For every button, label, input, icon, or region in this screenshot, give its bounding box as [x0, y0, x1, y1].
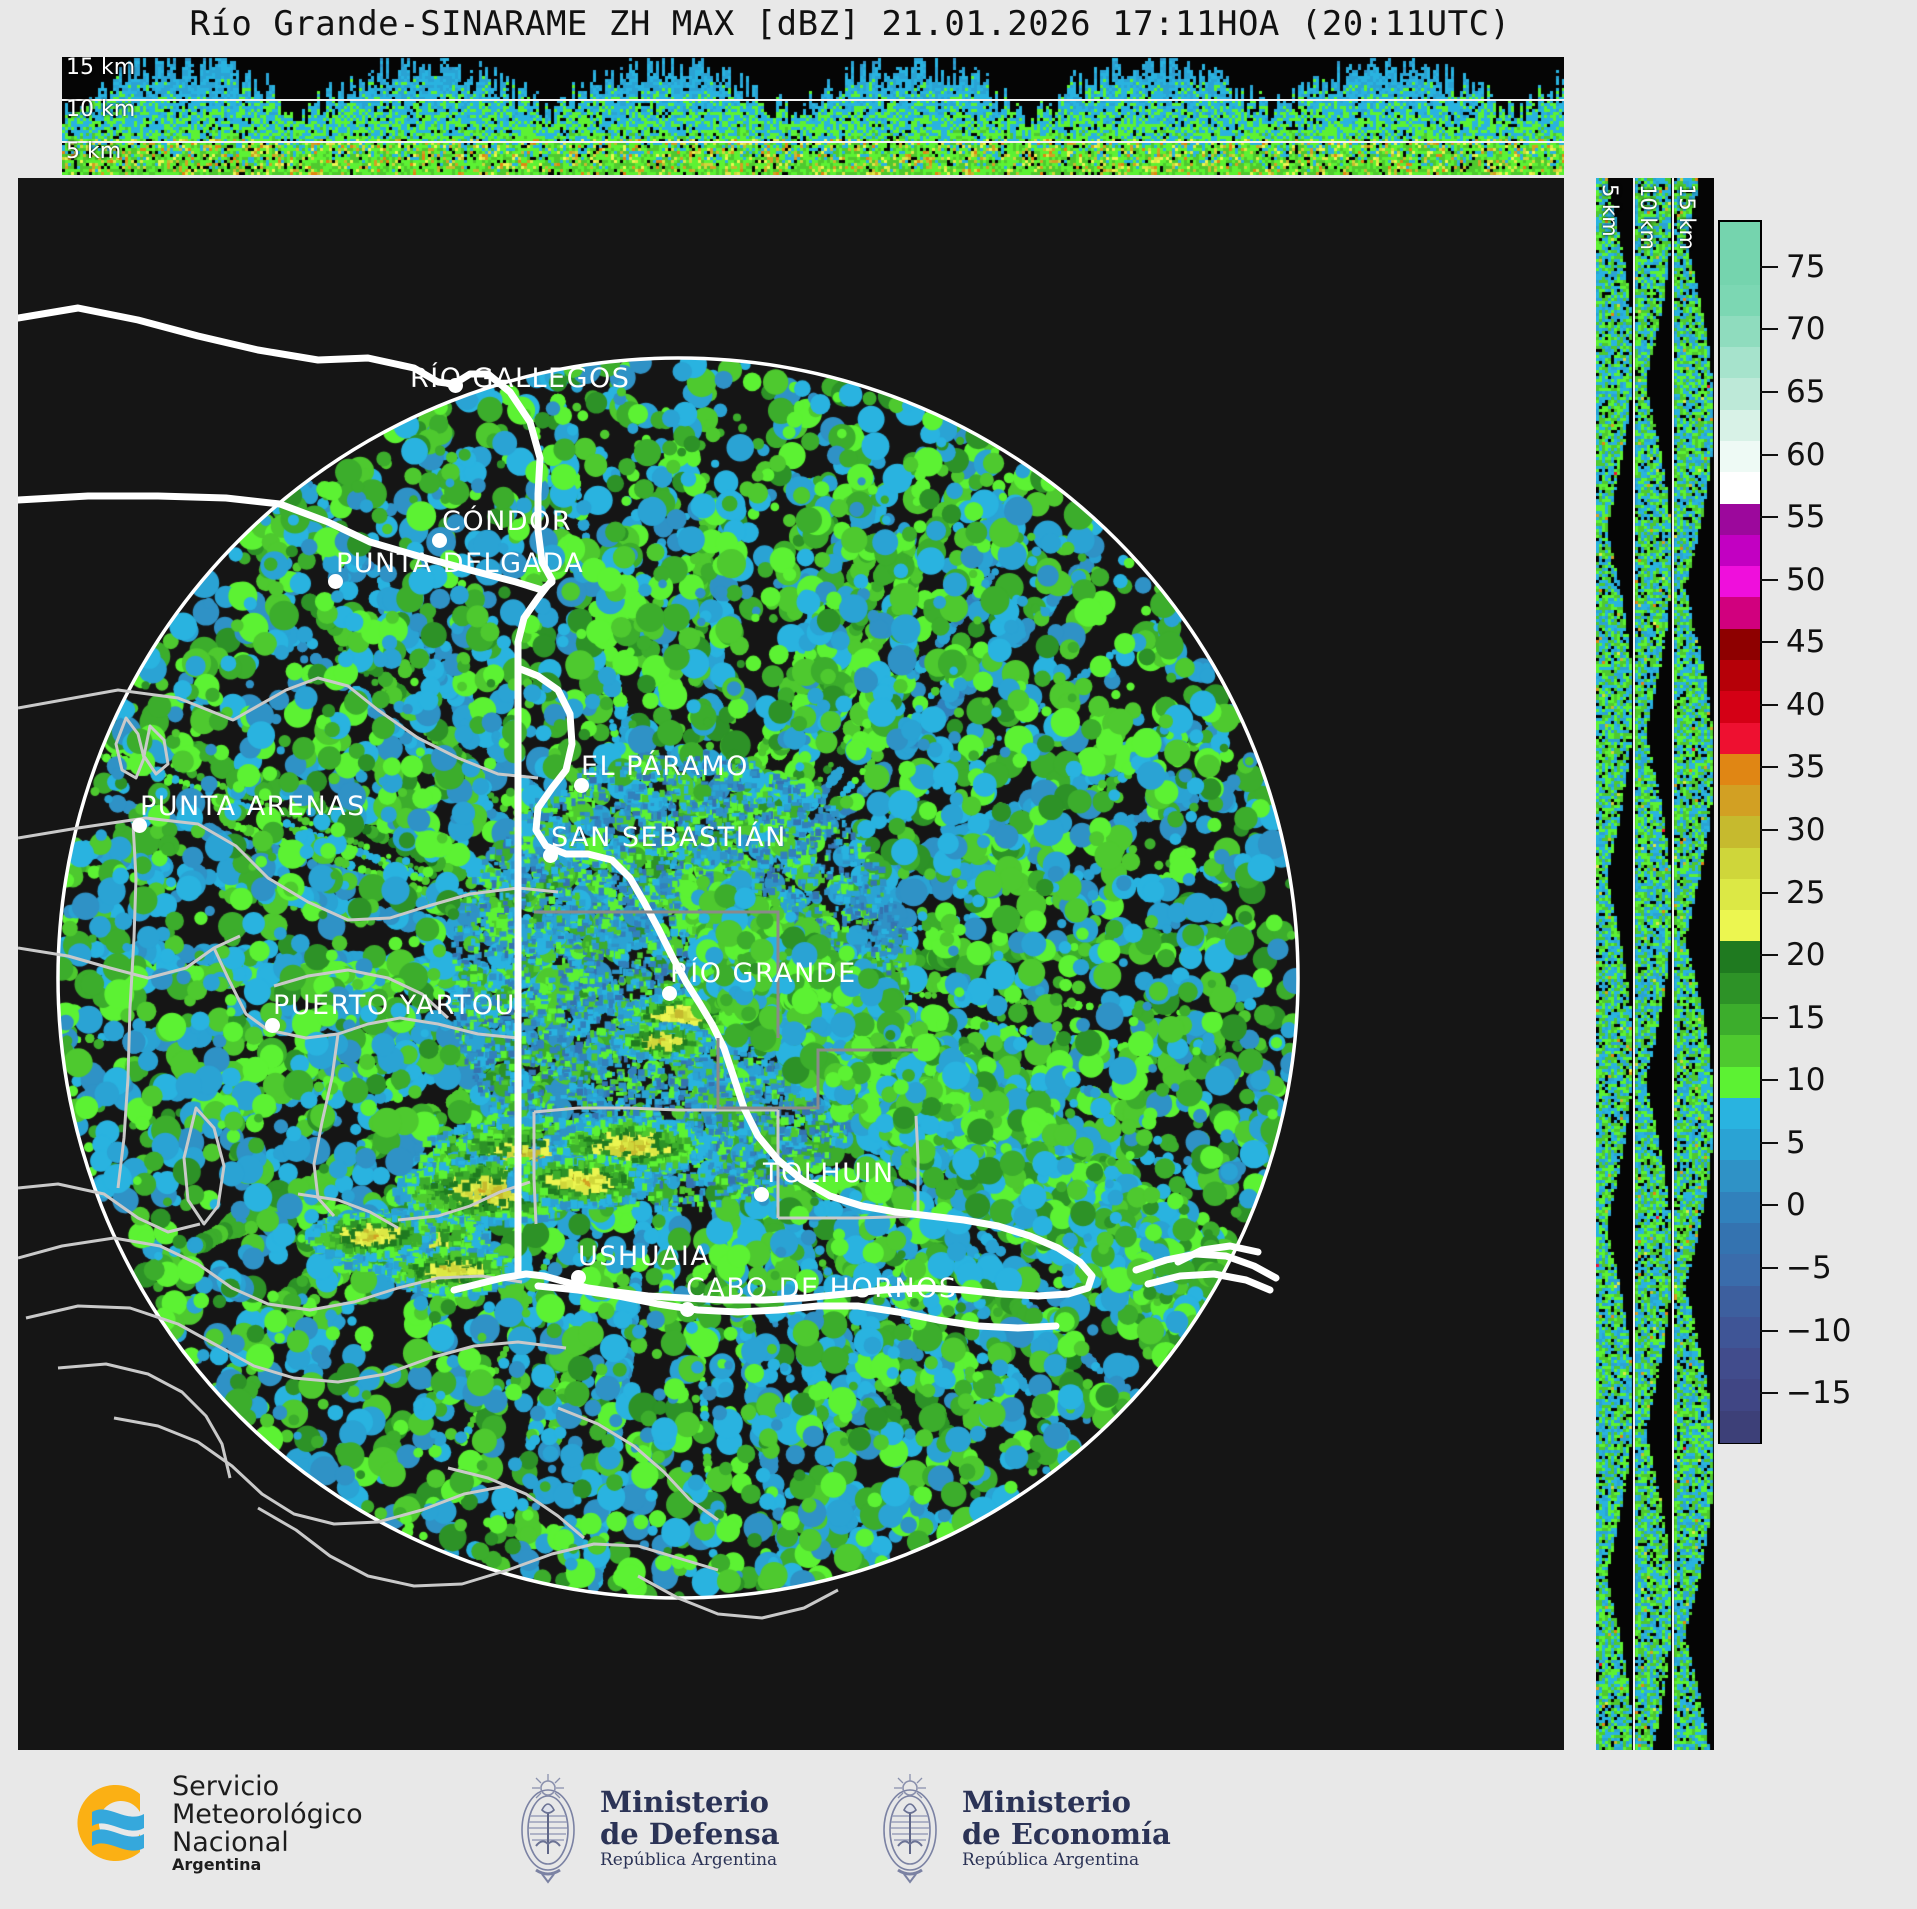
colorbar-tick-label: 40 — [1786, 687, 1825, 723]
colorbar-segment — [1720, 347, 1760, 379]
colorbar-tick-label: 55 — [1786, 499, 1825, 535]
city-marker-dot — [571, 1270, 586, 1285]
colorbar-segment — [1720, 754, 1760, 786]
side-alt-label-10km: 10 km — [1636, 184, 1660, 250]
page-title: Río Grande-SINARAME ZH MAX [dBZ] 21.01.2… — [0, 4, 1700, 44]
city-marker-dot — [543, 848, 558, 863]
colorbar-tick — [1760, 579, 1778, 581]
defensa-line-3: República Argentina — [600, 1851, 780, 1870]
smn-line-1: Servicio — [172, 1773, 363, 1801]
colorbar-segment — [1720, 285, 1760, 317]
vertical-gridline-a — [1633, 178, 1635, 1750]
colorbar-segment — [1720, 848, 1760, 880]
colorbar-segment — [1720, 941, 1760, 973]
argentina-coat-of-arms-icon — [870, 1772, 950, 1884]
colorbar-segment — [1720, 785, 1760, 817]
colorbar-tick — [1760, 1267, 1778, 1269]
economia-line-1: Ministerio — [962, 1787, 1171, 1819]
colorbar-segment — [1720, 1317, 1760, 1349]
colorbar-tick-label: −5 — [1786, 1250, 1832, 1286]
argentina-coat-of-arms-icon — [508, 1772, 588, 1884]
defensa-line-2: de Defensa — [600, 1819, 780, 1851]
colorbar-segment — [1720, 1379, 1760, 1411]
colorbar-segment — [1720, 879, 1760, 911]
colorbar-segment — [1720, 1129, 1760, 1161]
colorbar-tick — [1760, 892, 1778, 894]
city-marker-dot — [662, 986, 677, 1001]
top-cross-section-panel: 15 km 10 km 5 km — [62, 57, 1564, 175]
economia-logo-text: Ministerio de Economía República Argenti… — [962, 1787, 1171, 1869]
colorbar-segment — [1720, 472, 1760, 504]
colorbar-tick — [1760, 641, 1778, 643]
colorbar-segment — [1720, 597, 1760, 629]
colorbar-segment — [1720, 1004, 1760, 1036]
side-alt-label-15km: 15 km — [1675, 184, 1699, 250]
smn-line-2: Meteorológico — [172, 1801, 363, 1829]
colorbar-segment — [1720, 1067, 1760, 1099]
colorbar-tick-label: 50 — [1786, 562, 1825, 598]
colorbar-tick-label: −15 — [1786, 1375, 1851, 1411]
economia-line-2: de Economía — [962, 1819, 1171, 1851]
city-marker-dot — [754, 1187, 769, 1202]
colorbar-segment — [1720, 504, 1760, 536]
colorbar-segment — [1720, 1223, 1760, 1255]
colorbar-tick — [1760, 1204, 1778, 1206]
colorbar-tick-label: 75 — [1786, 249, 1825, 285]
colorbar-tick-label: 35 — [1786, 749, 1825, 785]
colorbar-tick — [1760, 1330, 1778, 1332]
colorbar-tick-label: 0 — [1786, 1187, 1806, 1223]
colorbar-segment — [1720, 378, 1760, 410]
colorbar-tick — [1760, 954, 1778, 956]
colorbar-tick — [1760, 516, 1778, 518]
colorbar-segment — [1720, 566, 1760, 598]
colorbar-tick — [1760, 1079, 1778, 1081]
colorbar-segment — [1720, 1035, 1760, 1067]
colorbar-tick-label: 15 — [1786, 1000, 1825, 1036]
colorbar-segment — [1720, 1411, 1760, 1443]
smn-logo: Servicio Meteorológico Nacional Argentin… — [52, 1768, 363, 1878]
vertical-gridline-b — [1672, 178, 1674, 1750]
gridline-15km — [62, 99, 1564, 101]
colorbar-tick — [1760, 829, 1778, 831]
colorbar-tick — [1760, 766, 1778, 768]
main-coastline — [18, 308, 1276, 1328]
smn-logo-text: Servicio Meteorológico Nacional Argentin… — [172, 1773, 363, 1874]
colorbar-segment — [1720, 1286, 1760, 1318]
administrative-boundary — [534, 912, 918, 1108]
alt-label-10km: 10 km — [66, 97, 135, 122]
colorbar-segment — [1720, 973, 1760, 1005]
colorbar-segment — [1720, 535, 1760, 567]
secondary-coastline — [18, 678, 918, 1618]
colorbar-segment — [1720, 691, 1760, 723]
colorbar-segment — [1720, 723, 1760, 755]
colorbar-tick — [1760, 1392, 1778, 1394]
city-marker-dot — [265, 1018, 280, 1033]
colorbar-tick-label: 10 — [1786, 1062, 1825, 1098]
city-marker-dot — [680, 1302, 695, 1317]
colorbar-segment — [1720, 222, 1760, 254]
dbz-colorbar-ticks: 757065605550454035302520151050−5−10−15 — [1760, 200, 1910, 1460]
colorbar-segment — [1720, 1192, 1760, 1224]
colorbar-segment — [1720, 316, 1760, 348]
map-overlay — [18, 178, 1564, 1750]
footer: Servicio Meteorológico Nacional Argentin… — [0, 1752, 1917, 1909]
colorbar-tick-label: 60 — [1786, 437, 1825, 473]
smn-line-4: Argentina — [172, 1857, 363, 1874]
colorbar-segment — [1720, 816, 1760, 848]
colorbar-tick — [1760, 328, 1778, 330]
colorbar-tick-label: −10 — [1786, 1313, 1851, 1349]
colorbar-segment — [1720, 1254, 1760, 1286]
city-marker-dot — [448, 378, 463, 393]
city-marker-dot — [574, 778, 589, 793]
colorbar-tick-label: 70 — [1786, 311, 1825, 347]
colorbar-tick-label: 20 — [1786, 937, 1825, 973]
colorbar-tick — [1760, 1017, 1778, 1019]
colorbar-segment — [1720, 910, 1760, 942]
city-marker-dot — [132, 818, 147, 833]
gridline-10km — [62, 141, 1564, 143]
colorbar-tick-label: 5 — [1786, 1125, 1806, 1161]
colorbar-tick-label: 30 — [1786, 812, 1825, 848]
radar-ppi-panel[interactable]: RÍO GALLEGOSCÓNDORPUNTA DELGADAPUNTA ARE… — [18, 178, 1564, 1750]
city-marker-dot — [328, 574, 343, 589]
defensa-line-1: Ministerio — [600, 1787, 780, 1819]
colorbar-segment — [1720, 1348, 1760, 1380]
colorbar-tick — [1760, 704, 1778, 706]
right-cross-section-panel: 5 km 10 km 15 km — [1596, 178, 1714, 1750]
colorbar-tick-label: 45 — [1786, 624, 1825, 660]
top-cross-section-canvas — [62, 57, 1564, 175]
colorbar-segment — [1720, 410, 1760, 442]
colorbar-tick — [1760, 391, 1778, 393]
colorbar-tick — [1760, 266, 1778, 268]
city-marker-dot — [432, 533, 447, 548]
colorbar-segment — [1720, 629, 1760, 661]
colorbar-segment — [1720, 253, 1760, 285]
colorbar-tick — [1760, 454, 1778, 456]
radar-range-ring — [58, 358, 1298, 1598]
defensa-logo-text: Ministerio de Defensa República Argentin… — [600, 1787, 780, 1869]
colorbar-segment — [1720, 1098, 1760, 1130]
smn-line-3: Nacional — [172, 1829, 363, 1857]
dbz-colorbar — [1718, 220, 1762, 1444]
colorbar-segment — [1720, 441, 1760, 473]
ministerio-economia-logo: Ministerio de Economía República Argenti… — [870, 1772, 1171, 1884]
economia-line-3: República Argentina — [962, 1851, 1171, 1870]
colorbar-tick-label: 25 — [1786, 875, 1825, 911]
right-cross-section-canvas — [1596, 178, 1714, 1750]
alt-label-15km: 15 km — [66, 57, 135, 80]
smn-mark-icon — [52, 1768, 162, 1878]
ministerio-defensa-logo: Ministerio de Defensa República Argentin… — [508, 1772, 780, 1884]
alt-label-5km: 5 km — [66, 139, 121, 164]
colorbar-segment — [1720, 1160, 1760, 1192]
colorbar-tick-label: 65 — [1786, 374, 1825, 410]
colorbar-tick — [1760, 1142, 1778, 1144]
colorbar-segment — [1720, 660, 1760, 692]
side-alt-label-5km: 5 km — [1598, 184, 1622, 237]
